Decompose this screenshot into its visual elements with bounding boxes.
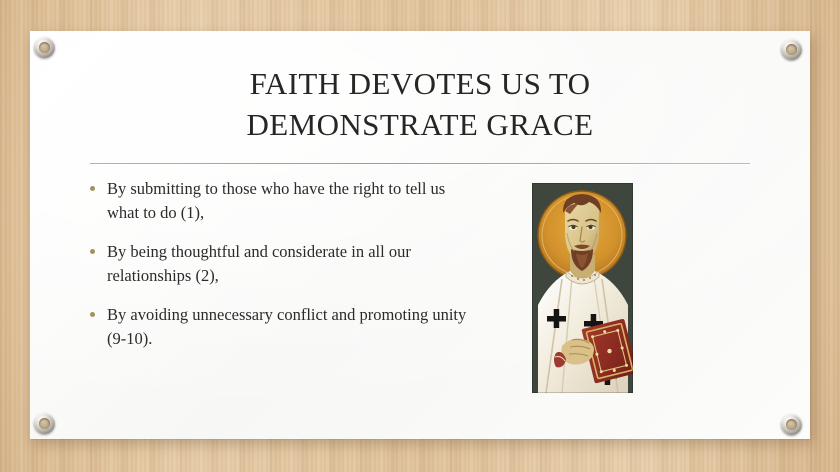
bullet-list: By submitting to those who have the righ… — [90, 177, 470, 351]
bullet-dot-icon — [90, 249, 95, 254]
bullet-text: By avoiding unnecessary conflict and pro… — [107, 303, 470, 351]
bullet-dot-icon — [90, 312, 95, 317]
screw-icon-top-right — [781, 39, 802, 60]
list-item: By avoiding unnecessary conflict and pro… — [90, 303, 470, 351]
bullet-text: By submitting to those who have the righ… — [107, 177, 470, 225]
saint-icon-image — [532, 183, 633, 393]
screw-icon-top-left — [34, 37, 55, 58]
slide-title-line-2: DEMONSTRATE GRACE — [90, 105, 750, 146]
bullet-text: By being thoughtful and considerate in a… — [107, 240, 470, 288]
list-item: By being thoughtful and considerate in a… — [90, 240, 470, 288]
list-item: By submitting to those who have the righ… — [90, 177, 470, 225]
screw-icon-bottom-right — [781, 414, 802, 435]
title-divider — [90, 163, 750, 164]
slide-title: FAITH DEVOTES US TO DEMONSTRATE GRACE — [90, 64, 750, 146]
bullet-dot-icon — [90, 186, 95, 191]
presentation-slide: FAITH DEVOTES US TO DEMONSTRATE GRACE By… — [0, 0, 840, 472]
slide-title-line-1: FAITH DEVOTES US TO — [90, 64, 750, 105]
screw-icon-bottom-left — [34, 413, 55, 434]
